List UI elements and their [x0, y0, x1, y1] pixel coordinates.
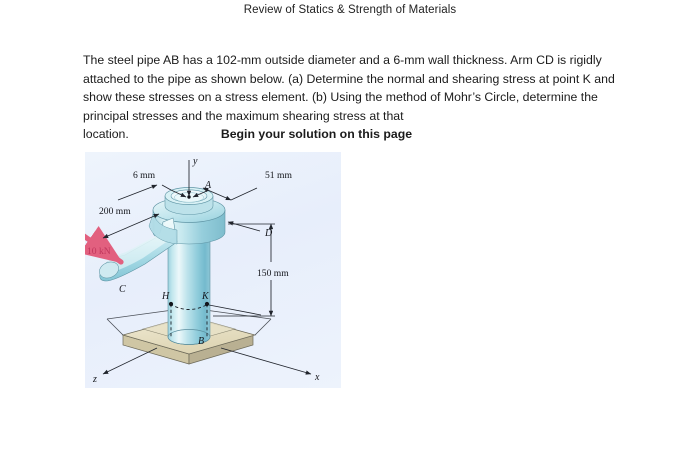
axis-label-z: z: [92, 374, 97, 385]
axis-label-x: x: [314, 372, 320, 383]
problem-location-word: location.: [83, 125, 129, 144]
point-label-c: C: [119, 284, 126, 295]
axis-label-y: y: [192, 156, 198, 167]
dim-label-200mm: 200 mm: [99, 206, 131, 217]
dim-label-51mm: 51 mm: [265, 170, 292, 181]
instruction-begin-solution: Begin your solution on this page: [221, 125, 412, 144]
problem-statement: The steel pipe AB has a 102-mm outside d…: [83, 51, 618, 144]
point-label-d: D: [264, 228, 273, 239]
load-label-10kn: 10 kN: [87, 246, 111, 257]
problem-paragraph: The steel pipe AB has a 102-mm outside d…: [83, 51, 618, 125]
point-label-k: K: [201, 291, 210, 302]
dim-label-6mm: 6 mm: [133, 170, 156, 181]
point-label-b: B: [198, 336, 204, 347]
figure-pipe-arm-assembly: 6 mm 200 mm 51 mm 150 mm 10 kN A B C D H…: [85, 152, 341, 388]
page-title: Review of Statics & Strength of Material…: [0, 4, 700, 16]
dim-label-150mm: 150 mm: [257, 268, 289, 279]
point-label-h: H: [161, 291, 170, 302]
problem-last-line: location. Begin your solution on this pa…: [83, 125, 618, 144]
point-label-a: A: [204, 180, 212, 191]
